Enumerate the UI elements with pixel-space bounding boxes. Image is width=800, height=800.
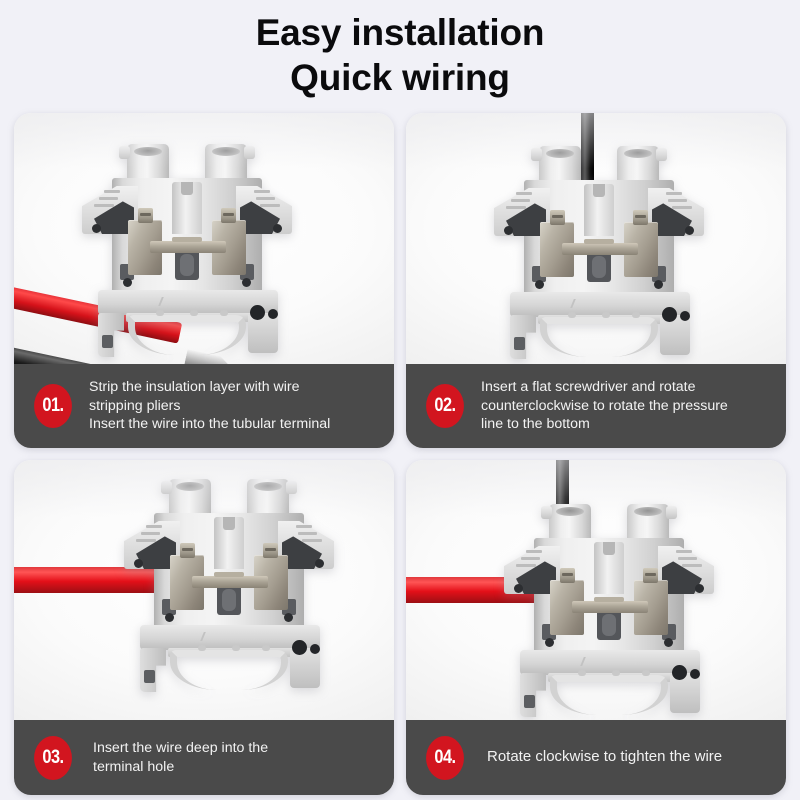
foot-hook xyxy=(98,313,124,357)
bolt-right xyxy=(654,280,663,289)
bolt-left xyxy=(535,280,544,289)
foot-hole-small xyxy=(680,311,690,321)
foot-nub-1 xyxy=(568,312,576,318)
foot-nub-3 xyxy=(220,310,228,316)
din-rail-foot xyxy=(510,315,690,360)
center-cavity-inner xyxy=(602,614,616,636)
foot-tab xyxy=(660,317,690,355)
step-card-1: 01. Strip the insulation layer with wire… xyxy=(14,113,394,448)
foot-hole-small xyxy=(690,669,700,679)
bus-bar xyxy=(192,576,268,588)
pin-dot-left xyxy=(514,584,523,593)
step-1-photo xyxy=(14,113,394,364)
clamp-screw-left xyxy=(550,210,565,225)
foot-hook xyxy=(140,648,166,692)
steps-grid: 01. Strip the insulation layer with wire… xyxy=(14,113,786,787)
foot-hook xyxy=(520,673,546,717)
foot-hook xyxy=(510,315,536,359)
step-1-badge: 01. xyxy=(34,384,72,428)
foot-arch xyxy=(170,650,288,690)
pin-dot-right xyxy=(273,224,282,233)
foot-arch xyxy=(550,675,668,715)
foot-hole-large xyxy=(250,305,265,320)
clamp-screw-right xyxy=(221,208,236,223)
foot-tab xyxy=(290,650,320,688)
step-card-2: 02. Insert a flat screwdriver and rotate… xyxy=(406,113,786,448)
ridges-right xyxy=(674,548,704,570)
pin-dot-right xyxy=(315,559,324,568)
pin-dot-left xyxy=(92,224,101,233)
step-4-photo xyxy=(406,460,786,720)
ridges-right xyxy=(294,523,324,545)
din-rail-foot xyxy=(140,648,320,693)
step-3-caption: 03. Insert the wire deep into the termin… xyxy=(14,720,394,795)
step-4-badge: 04. xyxy=(426,736,464,780)
foot-hole-large xyxy=(292,640,307,655)
bolt-right xyxy=(284,613,293,622)
foot-nub-2 xyxy=(602,312,610,318)
bolt-left xyxy=(165,613,174,622)
bus-bar xyxy=(562,243,638,255)
pin-dot-right xyxy=(685,226,694,235)
clamp-screw-left xyxy=(560,568,575,583)
clamp-screw-left xyxy=(180,543,195,558)
foot-arch xyxy=(128,315,246,355)
terminal-block xyxy=(484,140,714,355)
center-cavity-inner xyxy=(222,589,236,611)
pin-dot-left xyxy=(134,559,143,568)
foot-tab xyxy=(248,315,278,353)
center-saddle xyxy=(594,542,624,594)
step-4-text: Rotate clockwise to tighten the wire xyxy=(479,748,772,767)
page-title: Easy installation Quick wiring xyxy=(0,0,800,100)
clamp-screw-right xyxy=(643,568,658,583)
foot-nub-3 xyxy=(262,645,270,651)
step-1-text: Strip the insulation layer with wire str… xyxy=(89,378,380,434)
step-card-3: 03. Insert the wire deep into the termin… xyxy=(14,460,394,795)
step-3-badge: 03. xyxy=(34,736,72,780)
terminal-block xyxy=(494,498,724,713)
bus-bar xyxy=(572,601,648,613)
din-rail-foot xyxy=(520,673,700,718)
ridges-left xyxy=(134,523,164,545)
foot-nub-3 xyxy=(632,312,640,318)
step-1-caption: 01. Strip the insulation layer with wire… xyxy=(14,364,394,448)
step-2-text: Insert a flat screwdriver and rotate cou… xyxy=(481,378,772,434)
foot-tab xyxy=(670,675,700,713)
clamp-screw-right xyxy=(263,543,278,558)
page-title-line-1: Easy installation xyxy=(0,10,800,55)
pin-dot-left xyxy=(504,226,513,235)
foot-arch xyxy=(540,317,658,357)
step-card-4: 04. Rotate clockwise to tighten the wire xyxy=(406,460,786,795)
bolt-right xyxy=(664,638,673,647)
step-2-photo xyxy=(406,113,786,364)
center-cavity-inner xyxy=(592,256,606,278)
bolt-left xyxy=(545,638,554,647)
page-title-line-2: Quick wiring xyxy=(0,55,800,100)
clamp-screw-right xyxy=(633,210,648,225)
ridges-left xyxy=(514,548,544,570)
foot-nub-1 xyxy=(578,670,586,676)
center-saddle xyxy=(172,182,202,234)
step-3-photo xyxy=(14,460,394,720)
center-cavity-inner xyxy=(180,254,194,276)
bolt-right xyxy=(242,278,251,287)
foot-nub-1 xyxy=(156,310,164,316)
step-2-badge: 02. xyxy=(426,384,464,428)
foot-hole-small xyxy=(310,644,320,654)
foot-nub-3 xyxy=(642,670,650,676)
clamp-screw-left xyxy=(138,208,153,223)
foot-nub-2 xyxy=(612,670,620,676)
foot-nub-2 xyxy=(190,310,198,316)
ridges-left xyxy=(92,188,122,210)
step-4-caption: 04. Rotate clockwise to tighten the wire xyxy=(406,720,786,795)
terminal-block xyxy=(114,473,344,688)
center-saddle xyxy=(214,517,244,569)
foot-nub-1 xyxy=(198,645,206,651)
foot-hole-large xyxy=(672,665,687,680)
step-3-text: Insert the wire deep into the terminal h… xyxy=(87,739,380,776)
ridges-right xyxy=(252,188,282,210)
bus-bar xyxy=(150,241,226,253)
ridges-left xyxy=(504,190,534,212)
foot-hole-small xyxy=(268,309,278,319)
terminal-block xyxy=(72,138,302,353)
center-saddle xyxy=(584,184,614,236)
ridges-right xyxy=(664,190,694,212)
foot-nub-2 xyxy=(232,645,240,651)
din-rail-foot xyxy=(98,313,278,358)
pin-dot-right xyxy=(695,584,704,593)
step-2-caption: 02. Insert a flat screwdriver and rotate… xyxy=(406,364,786,448)
foot-hole-large xyxy=(662,307,677,322)
bolt-left xyxy=(123,278,132,287)
